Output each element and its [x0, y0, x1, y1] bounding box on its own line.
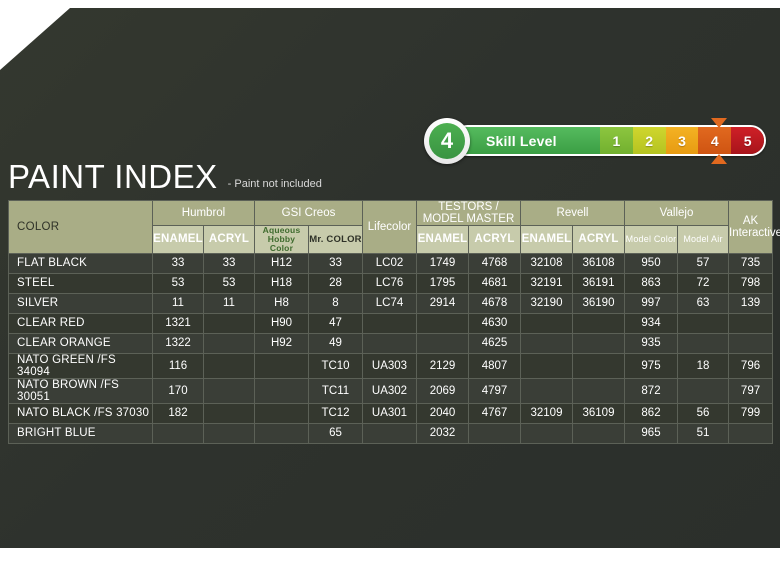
- header-ak-line1: AK: [743, 215, 758, 227]
- header-group-lifecolor: Lifecolor: [363, 201, 417, 254]
- header-testors-acryl: ACRYL: [469, 226, 521, 254]
- cell-lifecolor: [363, 313, 417, 333]
- cell-testors-enamel: 2032: [417, 423, 469, 443]
- cell-gsi-aqueous: H12: [255, 253, 309, 273]
- cell-revell-enamel: 32190: [521, 293, 573, 313]
- paint-index-page: Skill Level 1 2 3 4 5 4 PAINT INDEX - Pa…: [0, 0, 780, 585]
- paint-color-name: FLAT BLACK: [9, 253, 153, 273]
- header-humbrol-acryl: ACRYL: [204, 226, 255, 254]
- cell-humbrol-enamel: [153, 423, 204, 443]
- cell-humbrol-enamel: 11: [153, 293, 204, 313]
- cell-lifecolor: UA302: [363, 378, 417, 403]
- cell-revell-acryl: [573, 353, 625, 378]
- cell-revell-acryl: [573, 313, 625, 333]
- cell-revell-enamel: [521, 353, 573, 378]
- cell-revell-acryl: [573, 378, 625, 403]
- cell-vallejo-model-color: 934: [625, 313, 678, 333]
- table-row: NATO BROWN /FS 30051170TC11UA30220694797…: [9, 378, 773, 403]
- paint-color-name: SILVER: [9, 293, 153, 313]
- cell-ak: [729, 333, 773, 353]
- cell-testors-enamel: 1749: [417, 253, 469, 273]
- cell-humbrol-acryl: 11: [204, 293, 255, 313]
- header-group-vallejo: Vallejo: [625, 201, 729, 226]
- header-gsi-aqueous: Aqueous Hobby Color: [255, 226, 309, 254]
- header-ak-line2: Interactive: [729, 227, 780, 239]
- cell-gsi-mr: TC11: [309, 378, 363, 403]
- cell-vallejo-model-color: 950: [625, 253, 678, 273]
- header-vallejo-model-air: Model Air: [678, 226, 729, 254]
- cell-gsi-aqueous: [255, 378, 309, 403]
- cell-ak: [729, 423, 773, 443]
- page-title-row: PAINT INDEX - Paint not included: [8, 160, 322, 193]
- cell-gsi-aqueous: H8: [255, 293, 309, 313]
- cell-ak: 799: [729, 403, 773, 423]
- cell-testors-enamel: 2914: [417, 293, 469, 313]
- paint-color-name: CLEAR ORANGE: [9, 333, 153, 353]
- cell-lifecolor: UA301: [363, 403, 417, 423]
- cell-humbrol-acryl: 33: [204, 253, 255, 273]
- table-row: NATO BLACK /FS 37030182TC12UA30120404767…: [9, 403, 773, 423]
- cell-ak: 139: [729, 293, 773, 313]
- cell-testors-acryl: 4625: [469, 333, 521, 353]
- skill-level-badge: Skill Level 1 2 3 4 5 4: [424, 118, 766, 164]
- table-row: CLEAR ORANGE1322H92494625935: [9, 333, 773, 353]
- cell-vallejo-model-color: 965: [625, 423, 678, 443]
- cell-vallejo-model-color: 863: [625, 273, 678, 293]
- cell-revell-acryl: [573, 423, 625, 443]
- cell-humbrol-enamel: 1322: [153, 333, 204, 353]
- cell-vallejo-model-color: 862: [625, 403, 678, 423]
- cell-gsi-mr: TC12: [309, 403, 363, 423]
- cell-humbrol-acryl: [204, 333, 255, 353]
- header-gsi-mr-color: Mr. COLOR: [309, 226, 363, 254]
- cell-testors-enamel: 2040: [417, 403, 469, 423]
- cell-revell-acryl: [573, 333, 625, 353]
- header-testors-enamel: ENAMEL: [417, 226, 469, 254]
- cell-humbrol-acryl: [204, 378, 255, 403]
- skill-level-value: 4: [429, 123, 465, 159]
- cell-vallejo-model-air: [678, 313, 729, 333]
- table-row: NATO GREEN /FS 34094116TC10UA30321294807…: [9, 353, 773, 378]
- paint-color-name: NATO BLACK /FS 37030: [9, 403, 153, 423]
- cell-testors-acryl: 4768: [469, 253, 521, 273]
- cell-humbrol-enamel: 116: [153, 353, 204, 378]
- cell-vallejo-model-air: 72: [678, 273, 729, 293]
- cell-gsi-aqueous: H18: [255, 273, 309, 293]
- skill-marker-top-icon: [711, 118, 727, 128]
- skill-level-label: Skill Level: [454, 127, 600, 154]
- cell-vallejo-model-air: 56: [678, 403, 729, 423]
- cell-testors-acryl: [469, 423, 521, 443]
- cell-revell-acryl: 36191: [573, 273, 625, 293]
- paint-index-table-wrap: COLOR Humbrol GSI Creos Lifecolor TESTOR…: [8, 200, 772, 444]
- cell-vallejo-model-color: 935: [625, 333, 678, 353]
- header-vallejo-model-color: Model Color: [625, 226, 678, 254]
- table-body: FLAT BLACK3333H1233LC0217494768321083610…: [9, 253, 773, 443]
- cell-testors-enamel: [417, 333, 469, 353]
- cell-testors-acryl: 4767: [469, 403, 521, 423]
- cell-humbrol-acryl: [204, 313, 255, 333]
- cell-humbrol-enamel: 182: [153, 403, 204, 423]
- cell-ak: 735: [729, 253, 773, 273]
- cell-vallejo-model-air: 51: [678, 423, 729, 443]
- paint-color-name: NATO BROWN /FS 30051: [9, 378, 153, 403]
- skill-level-4: 4: [698, 127, 731, 154]
- cell-lifecolor: [363, 333, 417, 353]
- cell-revell-enamel: [521, 378, 573, 403]
- cell-revell-enamel: 32191: [521, 273, 573, 293]
- cell-ak: 798: [729, 273, 773, 293]
- header-revell-enamel: ENAMEL: [521, 226, 573, 254]
- skill-level-1: 1: [600, 127, 633, 154]
- header-gsi-aqueous-line2: Hobby Color: [268, 234, 295, 253]
- cell-revell-enamel: [521, 313, 573, 333]
- cell-vallejo-model-air: 63: [678, 293, 729, 313]
- cell-lifecolor: [363, 423, 417, 443]
- cell-testors-enamel: 2129: [417, 353, 469, 378]
- cell-humbrol-enamel: 1321: [153, 313, 204, 333]
- table-row: CLEAR RED1321H90474630934: [9, 313, 773, 333]
- cell-gsi-mr: TC10: [309, 353, 363, 378]
- cell-testors-enamel: 2069: [417, 378, 469, 403]
- cell-gsi-mr: 65: [309, 423, 363, 443]
- cell-lifecolor: LC74: [363, 293, 417, 313]
- skill-level-3: 3: [666, 127, 699, 154]
- cell-gsi-mr: 49: [309, 333, 363, 353]
- header-group-gsi-creos: GSI Creos: [255, 201, 363, 226]
- skill-level-5: 5: [731, 127, 764, 154]
- paint-color-name: BRIGHT BLUE: [9, 423, 153, 443]
- cell-gsi-aqueous: [255, 403, 309, 423]
- cell-revell-enamel: 32109: [521, 403, 573, 423]
- header-group-ak-interactive: AK Interactive: [729, 201, 773, 254]
- skill-marker-bottom-icon: [711, 154, 727, 164]
- cell-revell-enamel: 32108: [521, 253, 573, 273]
- cell-humbrol-acryl: [204, 353, 255, 378]
- cell-revell-acryl: 36109: [573, 403, 625, 423]
- cell-lifecolor: UA303: [363, 353, 417, 378]
- cell-ak: [729, 313, 773, 333]
- cell-testors-enamel: 1795: [417, 273, 469, 293]
- paint-color-name: STEEL: [9, 273, 153, 293]
- table-row: BRIGHT BLUE65203296551: [9, 423, 773, 443]
- page-subtitle: - Paint not included: [228, 178, 322, 190]
- corner-fold-decoration: [0, 8, 70, 70]
- paint-color-name: CLEAR RED: [9, 313, 153, 333]
- table-group-header-row: COLOR Humbrol GSI Creos Lifecolor TESTOR…: [9, 201, 773, 226]
- paint-color-name: NATO GREEN /FS 34094: [9, 353, 153, 378]
- cell-gsi-mr: 47: [309, 313, 363, 333]
- cell-humbrol-acryl: [204, 423, 255, 443]
- cell-vallejo-model-air: 57: [678, 253, 729, 273]
- cell-lifecolor: LC02: [363, 253, 417, 273]
- cell-vallejo-model-color: 997: [625, 293, 678, 313]
- cell-vallejo-model-air: [678, 378, 729, 403]
- header-testors-line2: MODEL MASTER: [423, 213, 515, 225]
- cell-humbrol-acryl: 53: [204, 273, 255, 293]
- cell-vallejo-model-color: 975: [625, 353, 678, 378]
- header-color: COLOR: [9, 201, 153, 254]
- cell-testors-acryl: 4807: [469, 353, 521, 378]
- table-row: SILVER1111H88LC7429144678321903619099763…: [9, 293, 773, 313]
- header-group-revell: Revell: [521, 201, 625, 226]
- header-humbrol-enamel: ENAMEL: [153, 226, 204, 254]
- page-title: PAINT INDEX: [8, 160, 218, 193]
- header-revell-acryl: ACRYL: [573, 226, 625, 254]
- header-group-testors: TESTORS / MODEL MASTER: [417, 201, 521, 226]
- cell-testors-acryl: 4678: [469, 293, 521, 313]
- cell-ak: 796: [729, 353, 773, 378]
- cell-vallejo-model-air: [678, 333, 729, 353]
- cell-gsi-mr: 8: [309, 293, 363, 313]
- cell-vallejo-model-air: 18: [678, 353, 729, 378]
- table-row: STEEL5353H1828LC761795468132191361918637…: [9, 273, 773, 293]
- cell-gsi-mr: 28: [309, 273, 363, 293]
- cell-gsi-aqueous: H90: [255, 313, 309, 333]
- header-group-humbrol: Humbrol: [153, 201, 255, 226]
- cell-testors-acryl: 4630: [469, 313, 521, 333]
- skill-level-bar: Skill Level 1 2 3 4 5: [452, 125, 766, 156]
- cell-testors-acryl: 4797: [469, 378, 521, 403]
- cell-revell-acryl: 36190: [573, 293, 625, 313]
- skill-level-circle: 4: [424, 118, 470, 164]
- cell-gsi-aqueous: H92: [255, 333, 309, 353]
- cell-testors-acryl: 4681: [469, 273, 521, 293]
- table-row: FLAT BLACK3333H1233LC0217494768321083610…: [9, 253, 773, 273]
- cell-revell-enamel: [521, 423, 573, 443]
- cell-humbrol-acryl: [204, 403, 255, 423]
- cell-humbrol-enamel: 53: [153, 273, 204, 293]
- cell-humbrol-enamel: 33: [153, 253, 204, 273]
- header-testors-line1: TESTORS /: [438, 201, 499, 213]
- cell-vallejo-model-color: 872: [625, 378, 678, 403]
- cell-gsi-aqueous: [255, 353, 309, 378]
- cell-testors-enamel: [417, 313, 469, 333]
- skill-level-2: 2: [633, 127, 666, 154]
- cell-gsi-mr: 33: [309, 253, 363, 273]
- cell-ak: 797: [729, 378, 773, 403]
- cell-gsi-aqueous: [255, 423, 309, 443]
- cell-revell-acryl: 36108: [573, 253, 625, 273]
- cell-humbrol-enamel: 170: [153, 378, 204, 403]
- cell-revell-enamel: [521, 333, 573, 353]
- paint-index-table: COLOR Humbrol GSI Creos Lifecolor TESTOR…: [8, 200, 773, 444]
- cell-lifecolor: LC76: [363, 273, 417, 293]
